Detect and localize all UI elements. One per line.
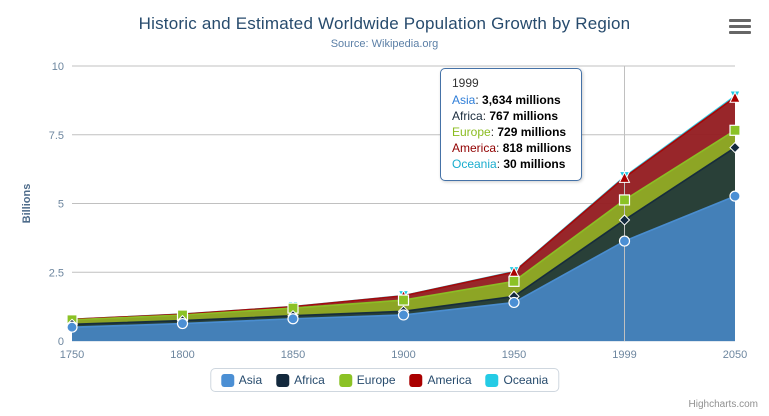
- tooltip-series-value: 767 millions: [489, 109, 558, 123]
- tooltip-separator: :: [475, 93, 482, 107]
- legend-swatch-icon: [486, 374, 499, 387]
- tooltip-row: America: 818 millions: [452, 140, 571, 156]
- tooltip-rows: Asia: 3,634 millionsAfrica: 767 millions…: [452, 92, 571, 172]
- tooltip-series-value: 818 millions: [503, 141, 572, 155]
- legend-item-oceania[interactable]: Oceania: [486, 373, 549, 387]
- x-axis-tick-label: 1750: [60, 349, 84, 361]
- credits-label: Highcharts.com: [689, 399, 758, 410]
- marker-europe[interactable]: [509, 276, 519, 286]
- marker-asia[interactable]: [178, 319, 188, 329]
- tooltip-row: Africa: 767 millions: [452, 108, 571, 124]
- y-axis-title: Billions: [21, 184, 33, 224]
- plot-area: 02.557.510Billions1750180018501900195019…: [0, 0, 769, 416]
- y-axis-tick-label: 7.5: [49, 130, 64, 142]
- marker-asia[interactable]: [620, 236, 630, 246]
- marker-europe[interactable]: [620, 195, 630, 205]
- y-axis-tick-label: 2.5: [49, 267, 64, 279]
- tooltip-header: 1999: [452, 76, 571, 90]
- y-axis-tick-label: 0: [58, 336, 64, 348]
- x-axis-tick-label: 1950: [502, 349, 526, 361]
- tooltip-series-name: America: [452, 141, 496, 155]
- legend-swatch-icon: [276, 374, 289, 387]
- tooltip: 1999 Asia: 3,634 millionsAfrica: 767 mil…: [440, 68, 582, 181]
- x-axis-tick-label: 1850: [281, 349, 305, 361]
- tooltip-separator: :: [496, 141, 503, 155]
- chart-legend: AsiaAfricaEuropeAmericaOceania: [210, 368, 559, 392]
- legend-item-asia[interactable]: Asia: [221, 373, 262, 387]
- tooltip-row: Oceania: 30 millions: [452, 156, 571, 172]
- legend-item-america[interactable]: America: [410, 373, 472, 387]
- tooltip-series-name: Asia: [452, 93, 475, 107]
- tooltip-row: Europe: 729 millions: [452, 124, 571, 140]
- legend-item-label: America: [428, 373, 472, 387]
- legend-swatch-icon: [410, 374, 423, 387]
- y-axis-tick-label: 10: [52, 61, 64, 73]
- x-axis-tick-label: 1999: [612, 349, 636, 361]
- marker-asia[interactable]: [730, 191, 740, 201]
- legend-swatch-icon: [339, 374, 352, 387]
- marker-asia[interactable]: [399, 310, 409, 320]
- legend-item-label: Oceania: [504, 373, 549, 387]
- x-axis-tick-label: 1900: [391, 349, 415, 361]
- legend-swatch-icon: [221, 374, 234, 387]
- tooltip-series-value: 3,634 millions: [482, 93, 561, 107]
- legend-item-label: Asia: [239, 373, 262, 387]
- legend-item-europe[interactable]: Europe: [339, 373, 396, 387]
- x-axis-tick-label: 1800: [170, 349, 194, 361]
- marker-asia[interactable]: [288, 314, 298, 324]
- legend-item-africa[interactable]: Africa: [276, 373, 325, 387]
- marker-asia[interactable]: [67, 322, 77, 332]
- legend-item-label: Africa: [294, 373, 325, 387]
- tooltip-series-name: Oceania: [452, 157, 497, 171]
- y-axis-tick-label: 5: [58, 199, 64, 211]
- marker-europe[interactable]: [730, 125, 740, 135]
- tooltip-series-name: Europe: [452, 125, 491, 139]
- chart-container: Historic and Estimated Worldwide Populat…: [0, 0, 769, 416]
- marker-asia[interactable]: [509, 297, 519, 307]
- tooltip-series-name: Africa: [452, 109, 483, 123]
- marker-europe[interactable]: [399, 295, 409, 305]
- tooltip-series-value: 729 millions: [497, 125, 566, 139]
- x-axis-tick-label: 2050: [723, 349, 747, 361]
- tooltip-row: Asia: 3,634 millions: [452, 92, 571, 108]
- tooltip-series-value: 30 millions: [503, 157, 565, 171]
- legend-item-label: Europe: [357, 373, 396, 387]
